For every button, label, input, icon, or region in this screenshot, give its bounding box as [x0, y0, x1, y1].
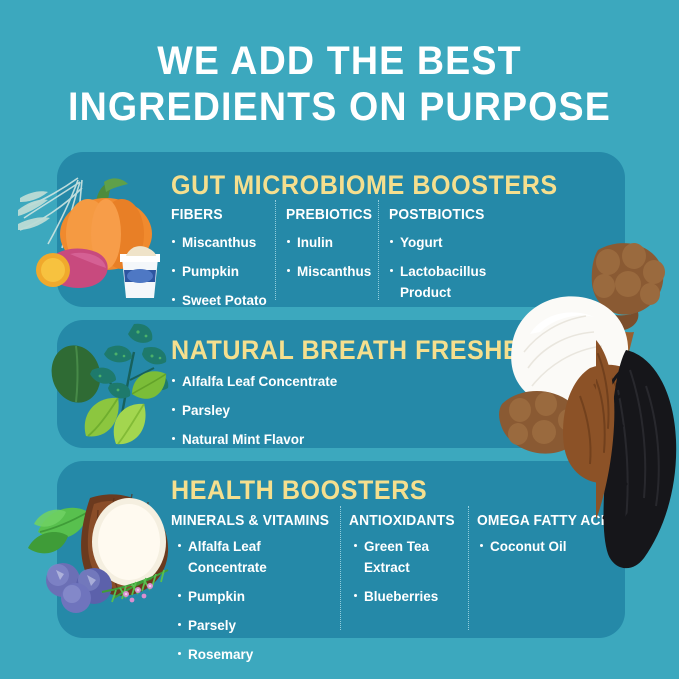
list-item: Miscanthus — [171, 232, 276, 253]
card-breath-title: NATURAL BREATH FRESHENERS — [171, 335, 592, 366]
list-item: Green Tea Extract — [353, 536, 463, 578]
title-line-1: WE ADD THE BEST — [20, 38, 658, 84]
title-line-2: INGREDIENTS ON PURPOSE — [20, 84, 658, 130]
list-antioxidants: Green Tea Extract Blueberries — [353, 536, 463, 615]
list-item: Alfalfa Leaf Concentrate — [171, 371, 431, 392]
col-head-prebiotics: PREBIOTICS — [286, 206, 372, 223]
col-head-antioxidants: ANTIOXIDANTS — [349, 512, 455, 529]
list-item: Parsley — [171, 400, 431, 421]
page-title: WE ADD THE BEST INGREDIENTS ON PURPOSE — [20, 38, 658, 130]
list-item: Yogurt — [389, 232, 499, 253]
list-item: Blueberries — [353, 586, 463, 607]
list-item: Sweet Potato — [171, 290, 276, 311]
list-item: Rosemary — [177, 644, 337, 665]
list-minerals-vitamins: Alfalfa Leaf Concentrate Pumpkin Parsely… — [177, 536, 337, 673]
list-item: Alfalfa Leaf Concentrate — [177, 536, 337, 578]
col-head-postbiotics: POSTBIOTICS — [389, 206, 485, 223]
list-item: Lactobacillus Product — [389, 261, 499, 303]
col-head-fibers: FIBERS — [171, 206, 223, 223]
list-item: Miscanthus — [286, 261, 381, 282]
list-item: Pumpkin — [177, 586, 337, 607]
col-head-omega-fatty-acids: OMEGA FATTY ACIDS — [477, 512, 624, 529]
col-head-minerals-vitamins: MINERALS & VITAMINS — [171, 512, 329, 529]
list-item: Coconut Oil — [479, 536, 609, 557]
card-gut-title: GUT MICROBIOME BOOSTERS — [171, 170, 558, 201]
list-item: Natural Mint Flavor — [171, 429, 431, 450]
list-item: Inulin — [286, 232, 381, 253]
infographic-canvas: WE ADD THE BEST INGREDIENTS ON PURPOSE — [0, 0, 679, 679]
divider-health-1 — [340, 506, 341, 630]
divider-health-2 — [468, 506, 469, 630]
list-postbiotics: Yogurt Lactobacillus Product — [389, 232, 499, 311]
list-prebiotics: Inulin Miscanthus — [286, 232, 381, 290]
list-omega-fatty-acids: Coconut Oil — [479, 536, 609, 565]
card-health-title: HEALTH BOOSTERS — [171, 475, 427, 506]
list-item: Pumpkin — [171, 261, 276, 282]
list-breath-fresheners: Alfalfa Leaf Concentrate Parsley Natural… — [171, 371, 431, 458]
list-fibers: Miscanthus Pumpkin Sweet Potato — [171, 232, 276, 319]
list-item: Parsely — [177, 615, 337, 636]
